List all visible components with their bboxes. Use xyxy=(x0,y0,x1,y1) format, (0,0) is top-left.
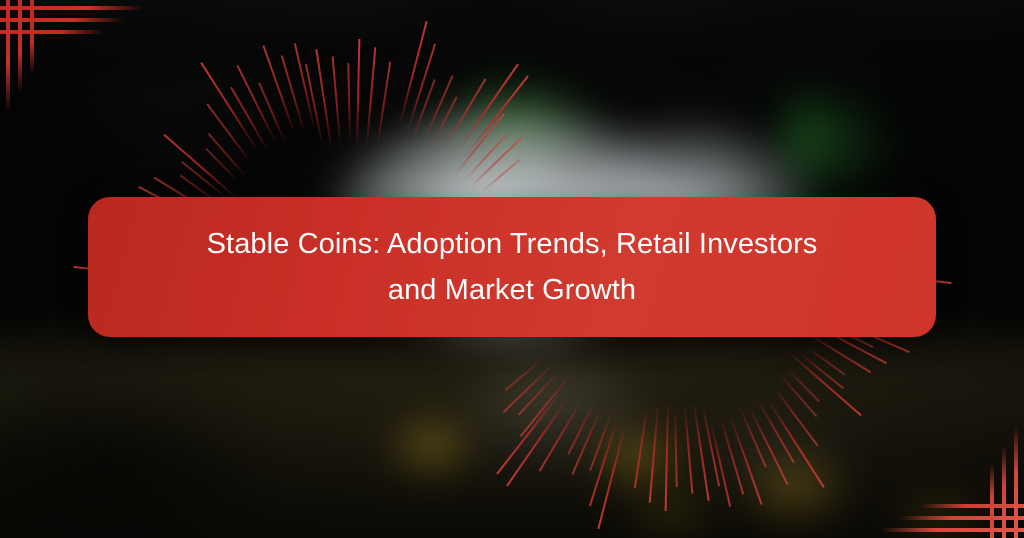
title-card: Stable Coins: Adoption Trends, Retail In… xyxy=(88,197,936,337)
article-hero-banner: Stable Coins: Adoption Trends, Retail In… xyxy=(0,0,1024,538)
page-title: Stable Coins: Adoption Trends, Retail In… xyxy=(192,221,832,313)
